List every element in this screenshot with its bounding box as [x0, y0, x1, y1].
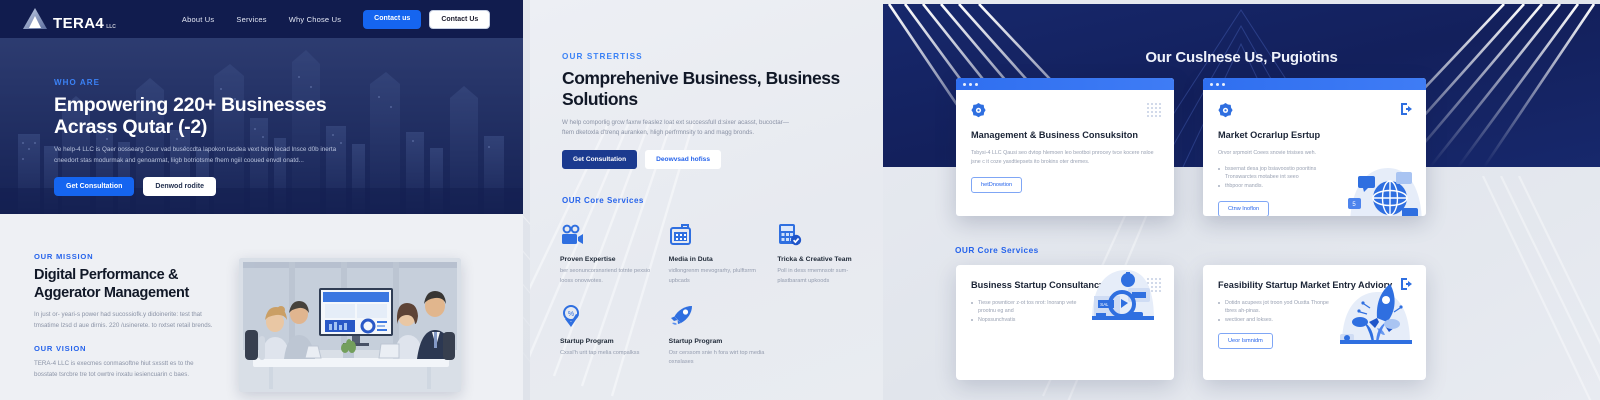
business-team-meeting-photo [239, 258, 461, 392]
calculator-check-icon [777, 222, 873, 246]
middle-services-grid: Proven Expertise ber seonuncorsnsriend t… [560, 222, 880, 367]
middle-download-button[interactable]: Deowvsad hofiss [645, 150, 721, 169]
dotted-grid-icon [1147, 103, 1161, 117]
mountain-triangle-icon [22, 7, 48, 31]
rocket-plant-illustration [1334, 278, 1416, 349]
service-name: Startup Program [669, 338, 765, 346]
mission-kicker: OUR MISSION [34, 252, 214, 261]
service-name: Proven Expertise [560, 256, 656, 264]
mockup-panel-right: Our Cuslnese Us, Pugiotins [883, 0, 1600, 400]
nav-item-why-chose-us[interactable]: Why Chose Us [289, 15, 341, 24]
shield-camera-icon [971, 103, 986, 118]
window-titlebar [1203, 78, 1426, 90]
vision-body: TERA-4 LLC is execmes conmasoftne hiut s… [34, 359, 214, 380]
card-bullet-list: bssernat desa jop bsiavoostio pooritins … [1218, 165, 1340, 191]
service-desc: ber seonuncorsnsriend totnte pexsio loos… [560, 267, 656, 285]
middle-body-text: W help comporlig grcw faxrw feaslez loat… [562, 118, 794, 139]
rocket-icon [669, 304, 765, 328]
vision-kicker: OUR VISION [34, 344, 214, 353]
mission-heading: Digital Performance & Aggerator Manageme… [34, 267, 214, 302]
service-name: Startup Program [560, 338, 656, 346]
service-desc: Poll in dess rmemnsotr sum-plastbaramt u… [777, 267, 873, 285]
contact-us-primary-button[interactable]: Contact us [363, 10, 421, 29]
card-business-startup-consultancy[interactable]: Business Startup Consultancy Services Ti… [956, 265, 1174, 380]
mockup-panel-middle: OUR STRERTISS Comprehenive Business, Bus… [530, 0, 883, 400]
window-dot [1222, 83, 1225, 86]
window-dot [1216, 83, 1219, 86]
card-cta-button[interactable]: hetDnowtion [971, 177, 1022, 193]
card-heading: Market Ocrarlup Esrtup [1218, 130, 1411, 142]
service-desc: Cxssl'h urit tap melia compalkss [560, 349, 656, 358]
window-dot [975, 83, 978, 86]
hero-body-text: Ve help-4 LLC is Qaer oossearg Cour vad … [54, 145, 354, 165]
card-body: Management & Business Consuksiton Tsbysi… [956, 90, 1174, 207]
list-item: Tiese pownticer z-ot tos nrot: lnoranp v… [971, 299, 1083, 316]
service-name: Tricka & Creative Team [777, 256, 873, 264]
logo-suffix: LLC [106, 25, 116, 30]
nav-item-about-us[interactable]: About Us [182, 15, 214, 24]
mission-vision-column: OUR MISSION Digital Performance & Aggera… [34, 252, 214, 381]
card-cta-button[interactable]: Ctnw Inoflon [1218, 201, 1269, 216]
contact-us-secondary-button[interactable]: Contact Us [429, 10, 490, 29]
middle-cta-row: Get Consultation Deowvsad hofiss [562, 150, 862, 169]
service-desc: Osr cerssom snie h fora wirt top media o… [669, 349, 765, 367]
hero-cta-row: Get Consultation Denwod rodite [54, 177, 354, 196]
service-name: Media in Duta [669, 256, 765, 264]
card-market-startup[interactable]: Market Ocrarlup Esrtup Orvor srpmoirt Co… [1203, 78, 1426, 216]
card-body-text: Tsbysi-4 LLC Qausi seo dvtop hlemoen leo… [971, 149, 1159, 167]
middle-get-consultation-button[interactable]: Get Consultation [562, 150, 637, 169]
middle-heading: Comprehenive Business, Business Solution… [562, 68, 862, 110]
logo-wordmark: TERA4 LLC [53, 16, 116, 31]
download-profile-button[interactable]: Denwod rodite [143, 177, 216, 196]
mockup-panel-left: TERA4 LLC About Us Services Why Chose Us… [0, 0, 523, 400]
window-titlebar [956, 78, 1174, 90]
list-item: wectioer and lokses. [1218, 316, 1336, 325]
list-item: thbpoor mandis. [1218, 182, 1340, 191]
hero-text-block: WHO ARE Empowering 220+ Businesses Acras… [54, 78, 354, 196]
storefront-search-illustration: SALE [1082, 265, 1160, 325]
middle-services-title: OUR Core Services [562, 196, 644, 205]
card-heading: Management & Business Consuksiton [971, 130, 1159, 142]
list-item: Nopssunchvatis [971, 316, 1083, 325]
service-item[interactable]: Startup Program Osr cerssom snie h fora … [669, 304, 765, 368]
middle-kicker: OUR STRERTISS [562, 52, 862, 61]
nav-links: About Us Services Why Chose Us [182, 15, 341, 24]
globe-network-illustration: 5 [1344, 154, 1422, 216]
card-body: Market Ocrarlup Esrtup Orvor srpmoirt Co… [1203, 90, 1426, 216]
brand-logo[interactable]: TERA4 LLC [22, 7, 116, 31]
service-item[interactable]: Proven Expertise ber seonuncorsnsriend t… [560, 222, 656, 286]
hero-kicker: WHO ARE [54, 78, 354, 87]
nav-buttons: Contact us Contact Us [363, 10, 490, 29]
window-dot [1210, 83, 1213, 86]
card-body: Feasibility Startup Market Entry Adviory… [1203, 265, 1426, 349]
card-management-business-consultation[interactable]: Management & Business Consuksiton Tsbysi… [956, 78, 1174, 216]
window-dot [969, 83, 972, 86]
screenshot-canvas: TERA4 LLC About Us Services Why Chose Us… [0, 0, 1600, 400]
hero-heading: Empowering 220+ Businesses Acrass Qutar … [54, 94, 354, 138]
card-bullet-list: Tiese pownticer z-ot tos nrot: lnoranp v… [971, 299, 1083, 325]
svg-text:%: % [568, 311, 574, 318]
service-desc: vidlongrenm mevograrhy, plulftsrrm upbca… [669, 267, 765, 285]
mission-body: In just or- yeari-s power had sucossiofk… [34, 310, 214, 331]
get-consultation-button[interactable]: Get Consultation [54, 177, 134, 196]
right-banner-heading: Our Cuslnese Us, Pugiotins [883, 48, 1600, 68]
card-body-text: Orvor srpmoirt Coees snovie trisises weh… [1218, 149, 1338, 158]
service-item[interactable]: Tricka & Creative Team Poll in dess rmem… [777, 222, 873, 286]
logo-text: TERA4 [53, 16, 104, 31]
card-bullet-list: Dotidn acupees jot troon yod Oustta Thon… [1218, 299, 1336, 325]
right-services-kicker: OUR Core Services [955, 245, 1039, 255]
card-body: Business Startup Consultancy Services Ti… [956, 265, 1174, 325]
logout-arrow-icon[interactable] [1400, 102, 1414, 116]
card-cta-button[interactable]: Ueor Ismnidm [1218, 333, 1273, 349]
service-item-empty [777, 304, 873, 368]
middle-hero-block: OUR STRERTISS Comprehenive Business, Bus… [562, 52, 862, 169]
service-item[interactable]: Media in Duta vidlongrenm mevograrhy, pl… [669, 222, 765, 286]
nav-item-services[interactable]: Services [236, 15, 266, 24]
card-feasibility-startup-market-entry[interactable]: Feasibility Startup Market Entry Adviory… [1203, 265, 1426, 380]
shield-camera-icon [1218, 103, 1233, 118]
badge-check-icon: % [560, 304, 656, 328]
list-item: Dotidn acupees jot troon yod Oustta Thon… [1218, 299, 1336, 316]
service-item[interactable]: % Startup Program Cxssl'h urit tap melia… [560, 304, 656, 368]
top-navigation-bar: TERA4 LLC About Us Services Why Chose Us… [0, 0, 523, 38]
calendar-grid-icon [669, 222, 765, 246]
window-dot [963, 83, 966, 86]
video-camera-icon [560, 222, 656, 246]
list-item: bssernat desa jop bsiavoostio pooritins … [1218, 165, 1340, 182]
hero-section: TERA4 LLC About Us Services Why Chose Us… [0, 0, 523, 214]
